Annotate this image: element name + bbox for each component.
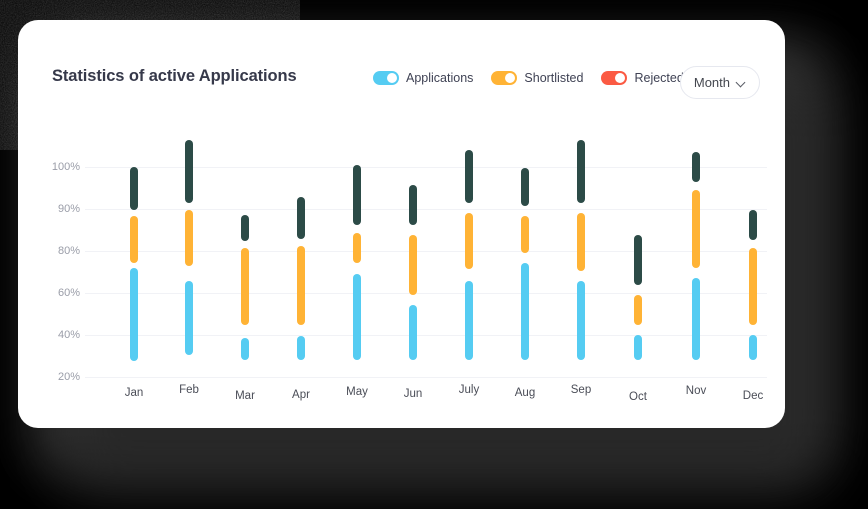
x-axis-tick-label: Jun <box>404 388 423 400</box>
x-axis-tick-label: Nov <box>686 385 706 397</box>
x-axis-tick-label: Apr <box>292 389 310 401</box>
bar-segment-rejected-aug[interactable] <box>521 168 529 206</box>
bar-segment-applications-jun[interactable] <box>409 305 417 360</box>
y-axis-tick-label: 20% <box>38 371 80 383</box>
x-axis-tick-label: Oct <box>629 391 647 403</box>
bar-segment-applications-oct[interactable] <box>634 335 642 360</box>
bar-segment-applications-july[interactable] <box>465 281 473 360</box>
x-axis-tick-label: Aug <box>515 387 535 399</box>
x-axis-tick-label: Feb <box>179 384 199 396</box>
bar-segment-shortlisted-jan[interactable] <box>130 216 138 263</box>
bar-segment-applications-feb[interactable] <box>185 281 193 355</box>
bar-segment-rejected-jun[interactable] <box>409 185 417 225</box>
x-axis-tick-label: Jan <box>125 387 144 399</box>
y-axis: 100%90%80%60%40%20% <box>28 20 80 428</box>
bar-segment-shortlisted-feb[interactable] <box>185 210 193 266</box>
bar-segment-shortlisted-jun[interactable] <box>409 235 417 295</box>
statistics-card: Statistics of active Applications Applic… <box>18 20 785 428</box>
bar-segment-rejected-oct[interactable] <box>634 235 642 285</box>
bar-segment-rejected-may[interactable] <box>353 165 361 225</box>
bar-segment-applications-mar[interactable] <box>241 338 249 360</box>
y-axis-tick-label: 80% <box>38 245 80 257</box>
y-axis-tick-label: 90% <box>38 203 80 215</box>
x-axis-tick-label: July <box>459 384 479 396</box>
bar-segment-shortlisted-oct[interactable] <box>634 295 642 325</box>
bar-segment-shortlisted-dec[interactable] <box>749 248 757 325</box>
bar-segment-rejected-sep[interactable] <box>577 140 585 203</box>
gridline <box>85 377 767 378</box>
bar-segment-applications-may[interactable] <box>353 274 361 360</box>
bar-segment-rejected-dec[interactable] <box>749 210 757 240</box>
bar-segment-applications-dec[interactable] <box>749 335 757 360</box>
bar-segment-rejected-feb[interactable] <box>185 140 193 203</box>
bar-segment-applications-jan[interactable] <box>130 268 138 361</box>
bar-segment-shortlisted-sep[interactable] <box>577 213 585 271</box>
x-axis-tick-label: Sep <box>571 384 591 396</box>
x-axis-tick-label: Dec <box>743 390 763 402</box>
bar-segment-rejected-jan[interactable] <box>130 167 138 210</box>
bar-segment-rejected-july[interactable] <box>465 150 473 203</box>
bar-segment-shortlisted-may[interactable] <box>353 233 361 263</box>
bar-segment-shortlisted-mar[interactable] <box>241 248 249 325</box>
bar-segment-applications-apr[interactable] <box>297 336 305 360</box>
bar-segment-applications-aug[interactable] <box>521 263 529 360</box>
bar-segment-rejected-nov[interactable] <box>692 152 700 182</box>
y-axis-tick-label: 40% <box>38 329 80 341</box>
x-axis-tick-label: May <box>346 386 368 398</box>
bar-segment-shortlisted-aug[interactable] <box>521 216 529 253</box>
bar-segment-applications-nov[interactable] <box>692 278 700 360</box>
chart-plot-area: 100%90%80%60%40%20% JanFebMarAprMayJunJu… <box>18 20 785 428</box>
bar-segment-shortlisted-apr[interactable] <box>297 246 305 325</box>
bar-segment-applications-sep[interactable] <box>577 281 585 360</box>
bar-segment-shortlisted-nov[interactable] <box>692 190 700 268</box>
bar-segment-rejected-apr[interactable] <box>297 197 305 239</box>
bar-segment-shortlisted-july[interactable] <box>465 213 473 269</box>
bar-segment-rejected-mar[interactable] <box>241 215 249 241</box>
y-axis-tick-label: 100% <box>38 161 80 173</box>
y-axis-tick-label: 60% <box>38 287 80 299</box>
x-axis-tick-label: Mar <box>235 390 255 402</box>
